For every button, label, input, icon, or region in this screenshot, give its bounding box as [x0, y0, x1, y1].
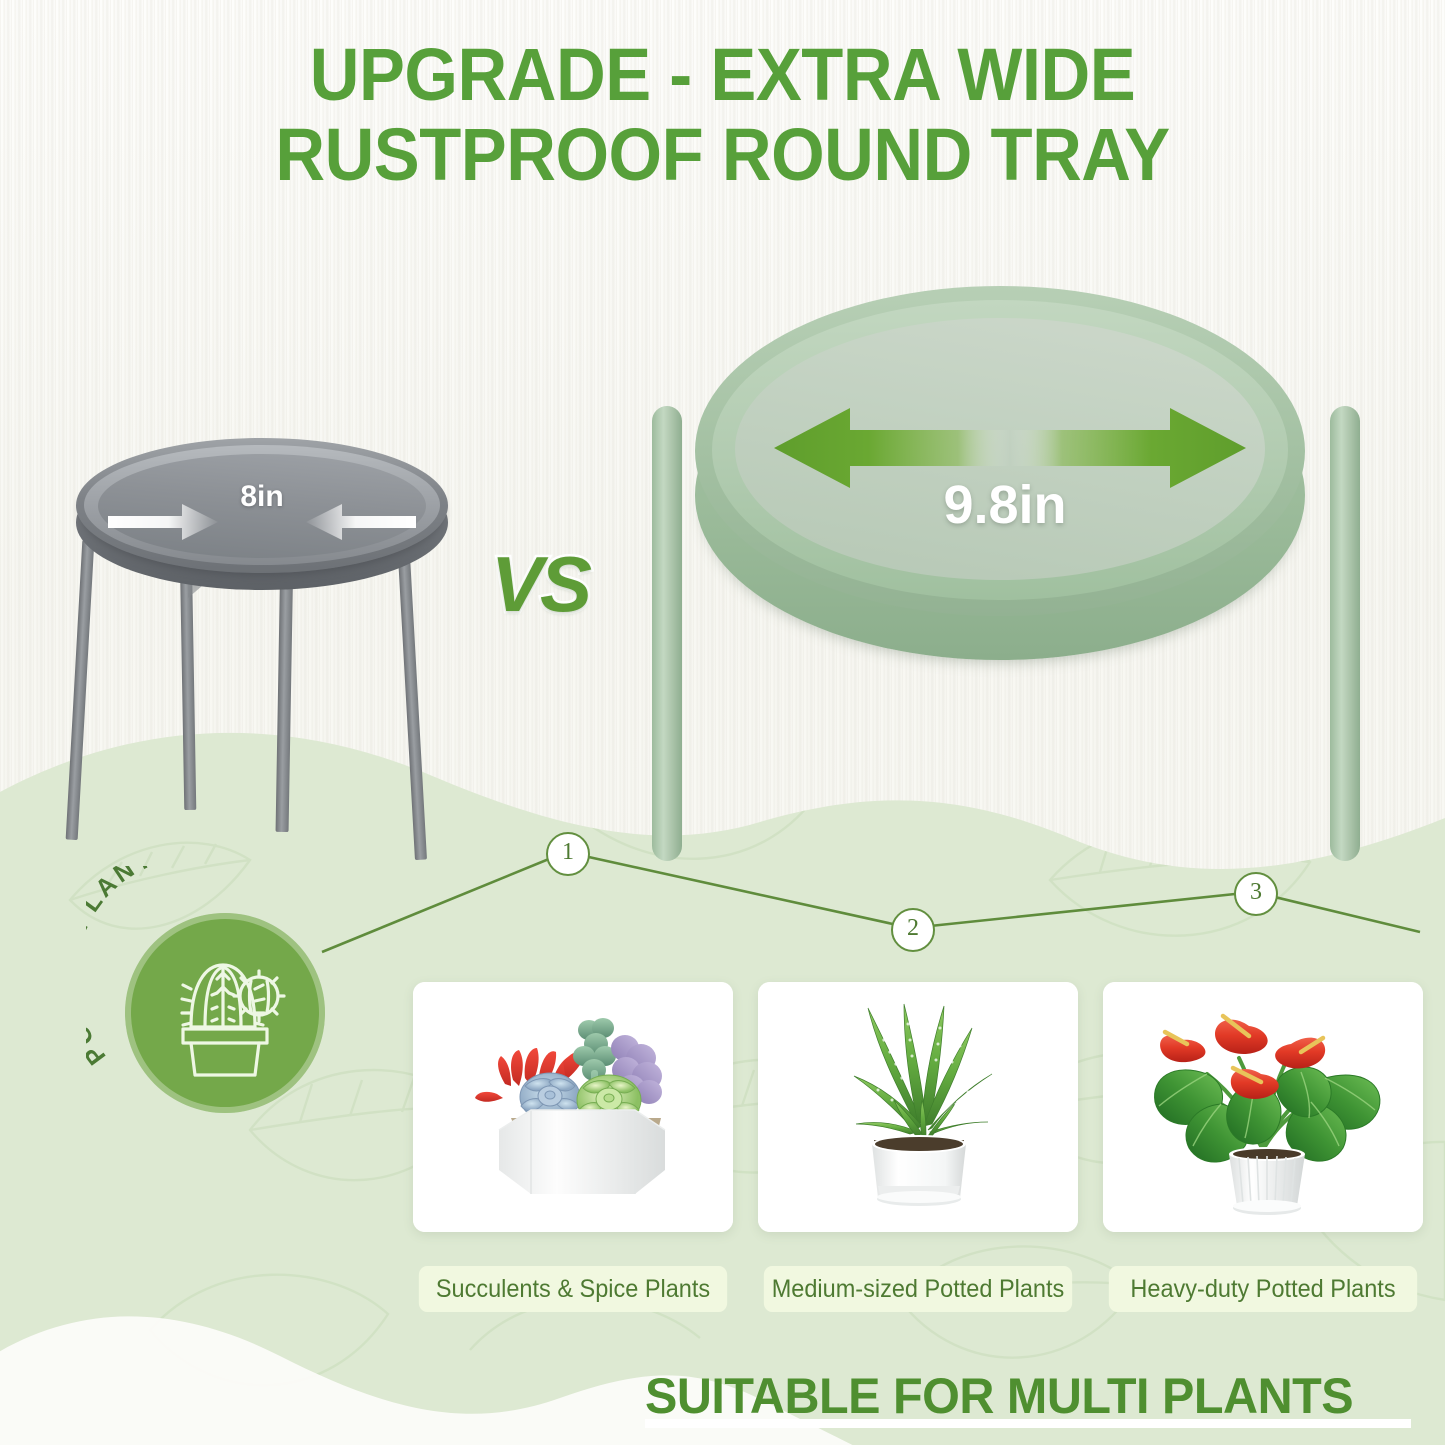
infographic-canvas: UPGRADE - EXTRA WIDE RUSTPROOF ROUND TRA… — [0, 0, 1445, 1445]
card-caption-3: Heavy-duty Potted Plants — [1109, 1266, 1417, 1312]
product-card-anthurium[interactable] — [1103, 982, 1423, 1232]
headline-line-1: UPGRADE - EXTRA WIDE — [51, 38, 1395, 112]
silver-plant-stand: 8in — [62, 432, 462, 852]
silver-dimension-label: 8in — [182, 480, 342, 514]
page-title: UPGRADE - EXTRA WIDE RUSTPROOF ROUND TRA… — [51, 38, 1395, 192]
badge-text-path: POTTED PLANT — [86, 866, 159, 1070]
callout-marker-2: 2 — [891, 908, 935, 952]
card-caption-2: Medium-sized Potted Plants — [764, 1266, 1072, 1312]
footer-headline: SUITABLE FOR MULTI PLANTS — [645, 1367, 1402, 1425]
green-plant-stand: 9.8in — [640, 278, 1380, 898]
silver-dimension-arrows — [62, 432, 462, 632]
product-card-succulents[interactable] — [413, 982, 733, 1232]
succulent-arrangement-hex-pot — [413, 982, 733, 1232]
card-caption-1: Succulents & Spice Plants — [419, 1266, 727, 1312]
callout-marker-1: 1 — [546, 832, 590, 876]
cactus-icon — [155, 943, 295, 1083]
red-anthurium-ribbed-pot — [1103, 982, 1423, 1232]
aloe-vera-white-pot — [758, 982, 1078, 1232]
potted-plant-badge: POTTED PLANT — [100, 888, 350, 1138]
product-card-aloe[interactable] — [758, 982, 1078, 1232]
versus-badge: VS — [470, 536, 610, 632]
callout-marker-3: 3 — [1234, 872, 1278, 916]
headline-line-2: RUSTPROOF ROUND TRAY — [51, 118, 1395, 192]
green-dimension-label: 9.8in — [905, 474, 1105, 536]
green-dimension-arrows — [640, 278, 1380, 638]
